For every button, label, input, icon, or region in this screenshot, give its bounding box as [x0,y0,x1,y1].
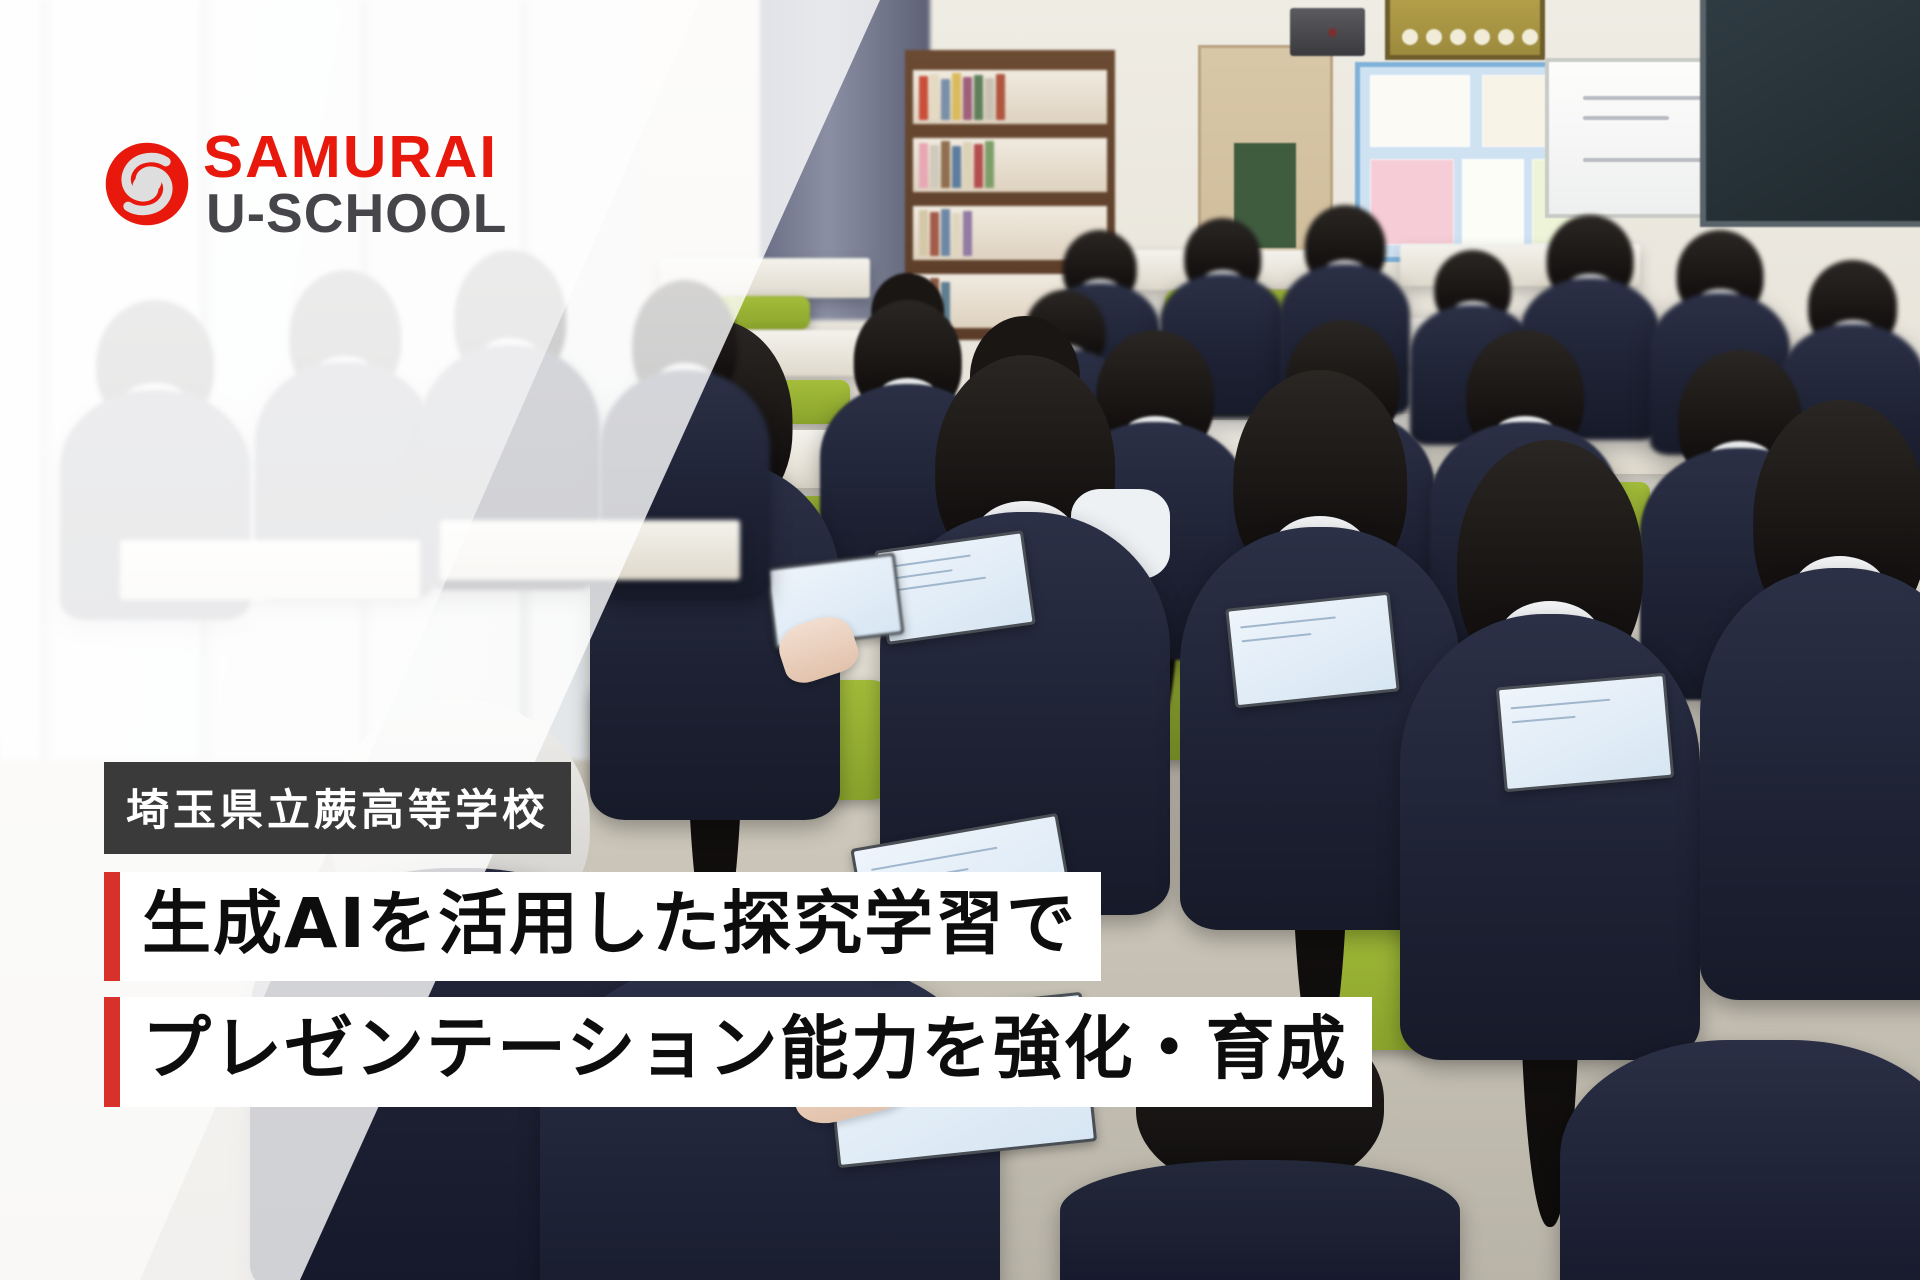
accent-bar-icon [104,997,120,1106]
logo-wordmark-bottom: U-SCHOOL [206,188,507,239]
hero-banner: SAMURAI U-SCHOOL 埼玉県立蕨高等学校 生成AIを活用した探究学習… [0,0,1920,1280]
projection-screen [1700,0,1920,227]
samurai-u-school-logo[interactable]: SAMURAI U-SCHOOL [104,130,507,239]
framed-picture [1385,0,1545,60]
speaker-box [1290,8,1365,56]
tablet-device [1225,592,1400,709]
school-name-badge: 埼玉県立蕨高等学校 [104,762,571,854]
student [1560,1040,1920,1280]
headline-row: 生成AIを活用した探究学習で [104,872,1101,981]
logo-wordmark-top: SAMURAI [203,130,510,184]
headline-row: プレゼンテーション能力を強化・育成 [104,997,1372,1106]
tablet-device [1496,673,1675,792]
accent-bar-icon [104,872,120,981]
headline-line-1: 生成AIを活用した探究学習で [120,872,1101,981]
samurai-swirl-mark-icon [104,141,190,227]
headline: 生成AIを活用した探究学習で プレゼンテーション能力を強化・育成 [104,872,1372,1107]
headline-line-2: プレゼンテーション能力を強化・育成 [120,997,1372,1106]
student [1700,400,1920,1000]
caption-block: 埼玉県立蕨高等学校 生成AIを活用した探究学習で プレゼンテーション能力を強化・… [104,762,1372,1123]
